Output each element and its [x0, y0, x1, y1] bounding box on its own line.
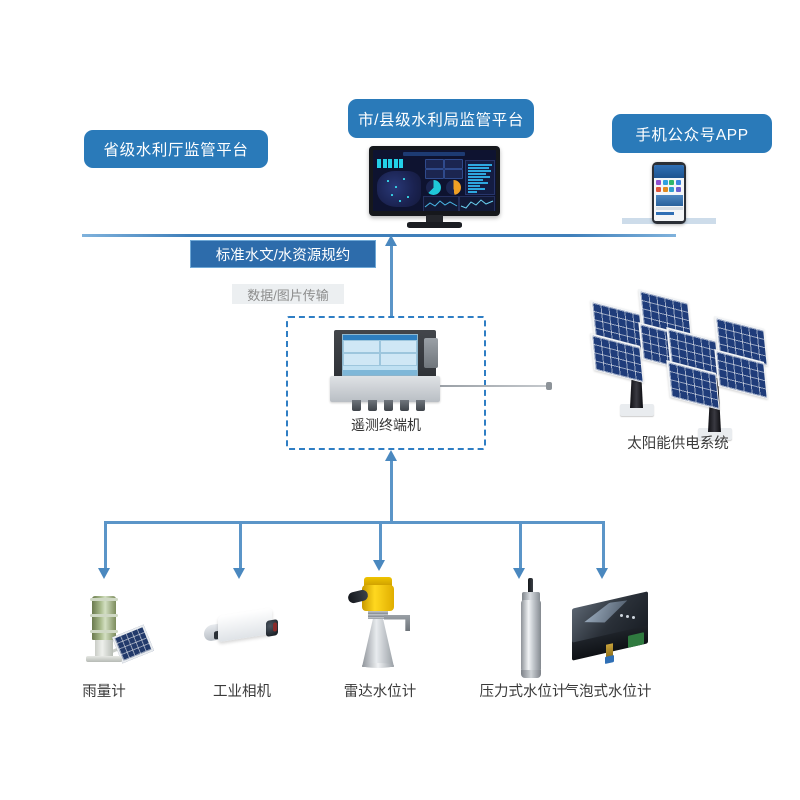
dashboard-line-chart: [459, 196, 495, 211]
sensor-drop-line: [519, 521, 522, 570]
antenna-tip-icon: [546, 382, 552, 390]
platform-provincial-label: 省级水利厅监管平台: [104, 138, 249, 160]
phone-banner: [656, 195, 683, 206]
sensor-label-text: 气泡式水位计: [565, 684, 652, 700]
platform-provincial[interactable]: 省级水利厅监管平台: [84, 130, 268, 168]
rtu-cable-gland: [400, 400, 409, 411]
dashboard-donut-chart: [426, 180, 441, 195]
protocol-label: 标准水文/水资源规约: [190, 240, 376, 268]
sensor-bus-line: [104, 521, 604, 524]
radar-level-meter-illustration: [338, 573, 422, 671]
monitor-illustration: [369, 146, 500, 230]
rtu-cable-gland: [352, 400, 361, 411]
terminal-label: 遥测终端机: [286, 415, 486, 435]
rain-gauge-illustration: [68, 590, 158, 668]
protocol-sublabel-text: 数据/图片传输: [247, 285, 329, 304]
platform-municipal[interactable]: 市/县级水利局监管平台: [348, 99, 534, 138]
sensor-drop-arrow-icon: [98, 568, 110, 579]
dashboard-line-chart: [423, 196, 459, 211]
diagram-canvas: 省级水利厅监管平台 市/县级水利局监管平台 手机公众号APP: [0, 0, 800, 800]
phone-list-row: [656, 207, 683, 210]
sensor-label-radar-level-meter: 雷达水位计: [320, 680, 440, 701]
dashboard-donut-chart: [446, 180, 461, 195]
bubbler-level-meter-illustration: [562, 586, 658, 662]
monitor-screen: [373, 150, 496, 211]
phone-screen: [654, 165, 684, 221]
rtu-screen-row: [343, 353, 417, 366]
sensor-drop-arrow-icon: [233, 568, 245, 579]
rtu-lower-housing: [330, 376, 440, 402]
sensor-drop-line: [104, 521, 107, 570]
phone-app-header: [654, 165, 684, 178]
dashboard-map: [377, 171, 421, 207]
dashboard-chips: [377, 159, 403, 168]
dashboard-title-bar: [403, 152, 465, 156]
sensor-label-industrial-camera: 工业相机: [182, 680, 302, 701]
dashboard-kpi: [425, 169, 444, 179]
sensor-drop-line: [239, 521, 242, 570]
rtu-screen-row: [343, 340, 417, 353]
platform-bus-line: [82, 234, 676, 237]
terminal-label-text: 遥测终端机: [351, 417, 421, 433]
sensor-label-text: 雨量计: [82, 684, 126, 700]
platform-mobile-app[interactable]: 手机公众号APP: [612, 114, 772, 153]
protocol-label-text: 标准水文/水资源规约: [216, 244, 351, 265]
sensor-label-text: 雷达水位计: [344, 684, 417, 700]
industrial-camera-illustration: [196, 596, 288, 660]
monitor-stand-base: [407, 222, 462, 228]
sensor-drop-line: [379, 521, 382, 562]
rtu-cable-gland: [416, 400, 425, 411]
pressure-level-meter-illustration: [492, 578, 570, 680]
sensor-bus-riser: [390, 458, 393, 524]
dashboard-kpi: [425, 159, 444, 169]
rtu-screen: [342, 334, 418, 376]
platform-municipal-label: 市/县级水利局监管平台: [358, 108, 524, 130]
smartphone-illustration: [652, 162, 686, 224]
rtu-cable-gland: [384, 400, 393, 411]
phone-list-row: [656, 212, 674, 215]
rtu-device-illustration: [330, 330, 440, 412]
sensor-drop-arrow-icon: [373, 560, 385, 571]
sensor-label-rain-gauge: 雨量计: [44, 680, 164, 701]
sensor-bus-uplink-arrow-icon: [385, 450, 397, 461]
rtu-cable-gland: [368, 400, 377, 411]
solar-power-label-text: 太阳能供电系统: [627, 436, 729, 452]
phone-icon-grid: [654, 178, 684, 194]
dashboard-kpi: [444, 169, 463, 179]
protocol-sublabel: 数据/图片传输: [232, 284, 344, 304]
sensor-label-bubbler-level-meter: 气泡式水位计: [548, 680, 668, 701]
rtu-screen-footer: [343, 370, 417, 375]
uplink-line: [390, 243, 393, 316]
sensor-drop-arrow-icon: [596, 568, 608, 579]
uplink-arrow-icon: [385, 235, 397, 246]
rtu-connector: [424, 338, 438, 368]
platform-mobile-app-label: 手机公众号APP: [635, 123, 748, 145]
dashboard-kpi: [444, 159, 463, 169]
monitor-bezel: [369, 146, 500, 216]
antenna-rod-icon: [440, 385, 550, 387]
solar-power-label: 太阳能供电系统: [588, 432, 768, 453]
sensor-drop-line: [602, 521, 605, 570]
sensor-label-text: 工业相机: [213, 684, 271, 700]
dashboard-bar-chart: [465, 160, 495, 195]
